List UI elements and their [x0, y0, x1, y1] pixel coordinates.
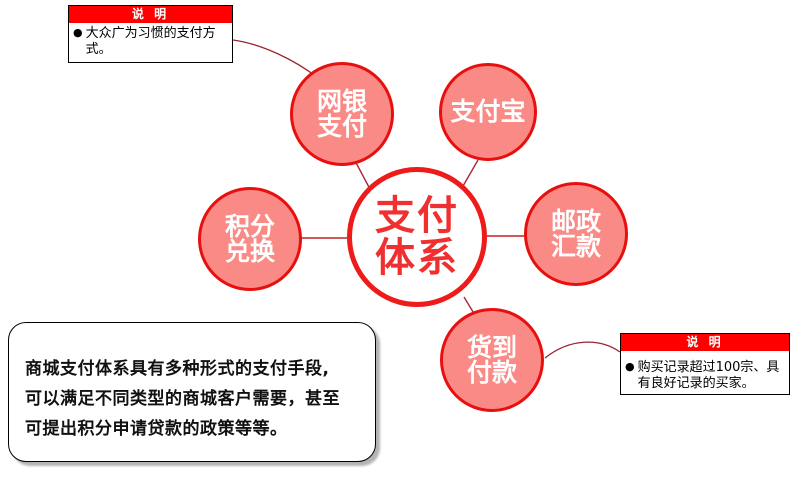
- node-label: 积分 兑换: [225, 214, 275, 265]
- callout-text: 大众广为习惯的支付方式。: [86, 26, 228, 59]
- node-points-exchange[interactable]: 积分 兑换: [198, 187, 302, 291]
- callout-body: ● 大众广为习惯的支付方式。: [69, 23, 232, 61]
- node-online-banking-payment[interactable]: 网银 支付: [290, 62, 394, 166]
- callout-cash-on-delivery-note: 说 明 ● 购买记录超过100宗、具有良好记录的买家。: [620, 333, 790, 395]
- leader-line-top: [233, 40, 318, 78]
- node-cash-on-delivery[interactable]: 货到 付款: [440, 308, 544, 412]
- callout-body: ● 购买记录超过100宗、具有良好记录的买家。: [621, 351, 789, 395]
- description-text: 商城支付体系具有多种形式的支付手段, 可以满足不同类型的商城客户需要，甚至 可提…: [25, 355, 365, 444]
- callout-title: 说 明: [69, 6, 232, 23]
- bullet-icon: ●: [73, 26, 86, 41]
- diagram-canvas: 网银 支付 支付宝 邮政 汇款 货到 付款 积分 兑换 支付 体系 说 明 ● …: [0, 0, 793, 478]
- callout-online-banking-note: 说 明 ● 大众广为习惯的支付方式。: [68, 5, 233, 63]
- node-payment-system[interactable]: 支付 体系: [347, 167, 487, 307]
- node-label: 支付 体系: [375, 195, 459, 279]
- description-panel: 商城支付体系具有多种形式的支付手段, 可以满足不同类型的商城客户需要，甚至 可提…: [8, 322, 376, 462]
- callout-text: 购买记录超过100宗、具有良好记录的买家。: [638, 360, 785, 393]
- node-label: 网银 支付: [317, 89, 367, 140]
- node-label: 货到 付款: [467, 335, 517, 386]
- bullet-icon: ●: [625, 360, 638, 375]
- node-postal-remittance[interactable]: 邮政 汇款: [524, 182, 628, 286]
- node-label: 邮政 汇款: [551, 209, 601, 260]
- leader-line-bottom: [545, 342, 620, 358]
- node-alipay[interactable]: 支付宝: [439, 63, 537, 161]
- callout-title: 说 明: [621, 334, 789, 351]
- node-label: 支付宝: [450, 99, 525, 125]
